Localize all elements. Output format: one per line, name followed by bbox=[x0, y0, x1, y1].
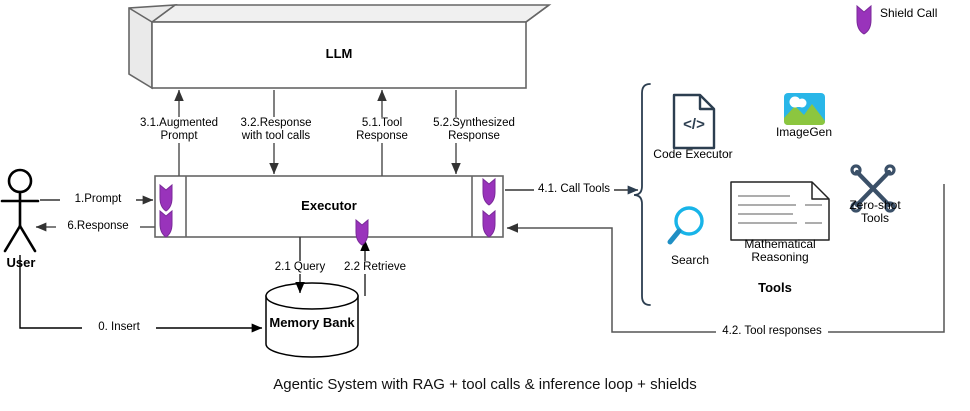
flow-label-2.1: 2.1 Query bbox=[264, 261, 336, 274]
image-tile-icon[interactable] bbox=[784, 93, 825, 125]
tool-label-mathematical-reasoning: Mathematical Reasoning bbox=[726, 238, 834, 264]
diagram-vector-layer: </> bbox=[0, 0, 970, 411]
memory-bank-label: Memory Bank bbox=[266, 316, 358, 329]
tool-label-imagegen: ImageGen bbox=[768, 126, 840, 139]
flow-label-3.1: 3.1.Augmented Prompt bbox=[138, 117, 220, 143]
flow-label-5.1: 5.1.Tool Response bbox=[345, 117, 419, 143]
magnifier-icon[interactable] bbox=[670, 208, 702, 242]
svg-text:</>: </> bbox=[683, 116, 705, 133]
tool-label-code-executor: Code Executor bbox=[648, 148, 738, 161]
flow-label-2.2: 2.2 Retrieve bbox=[336, 261, 414, 274]
user-actor[interactable] bbox=[2, 170, 38, 251]
legend-shield-label: Shield Call bbox=[880, 7, 966, 20]
llm-label: LLM bbox=[152, 47, 526, 60]
diagram-canvas: </> bbox=[0, 0, 970, 411]
tools-group-brace bbox=[634, 84, 650, 305]
flow-label-0: 0. Insert bbox=[82, 321, 156, 334]
flow-label-1: 1.Prompt bbox=[60, 193, 136, 206]
flow-label-4.1: 4.1. Call Tools bbox=[534, 183, 614, 196]
math-document-icon[interactable] bbox=[731, 182, 829, 240]
flow-label-3.2: 3.2.Response with tool calls bbox=[232, 117, 320, 143]
shield-icon-legend bbox=[857, 6, 871, 34]
flow-0-arrow bbox=[20, 255, 262, 328]
tool-label-search: Search bbox=[660, 254, 720, 267]
diagram-title: Agentic System with RAG + tool calls & i… bbox=[0, 376, 970, 393]
tool-label-zero-shot-tools: Zero-shot Tools bbox=[838, 199, 912, 225]
flow-label-6: 6.Response bbox=[56, 220, 140, 233]
user-label: User bbox=[0, 256, 42, 269]
code-document-icon[interactable]: </> bbox=[674, 95, 714, 148]
executor-label: Executor bbox=[186, 199, 472, 212]
flow-label-4.2: 4.2. Tool responses bbox=[716, 325, 828, 338]
tools-group-label: Tools bbox=[720, 281, 830, 294]
flow-label-5.2: 5.2.Synthesized Response bbox=[428, 117, 520, 143]
